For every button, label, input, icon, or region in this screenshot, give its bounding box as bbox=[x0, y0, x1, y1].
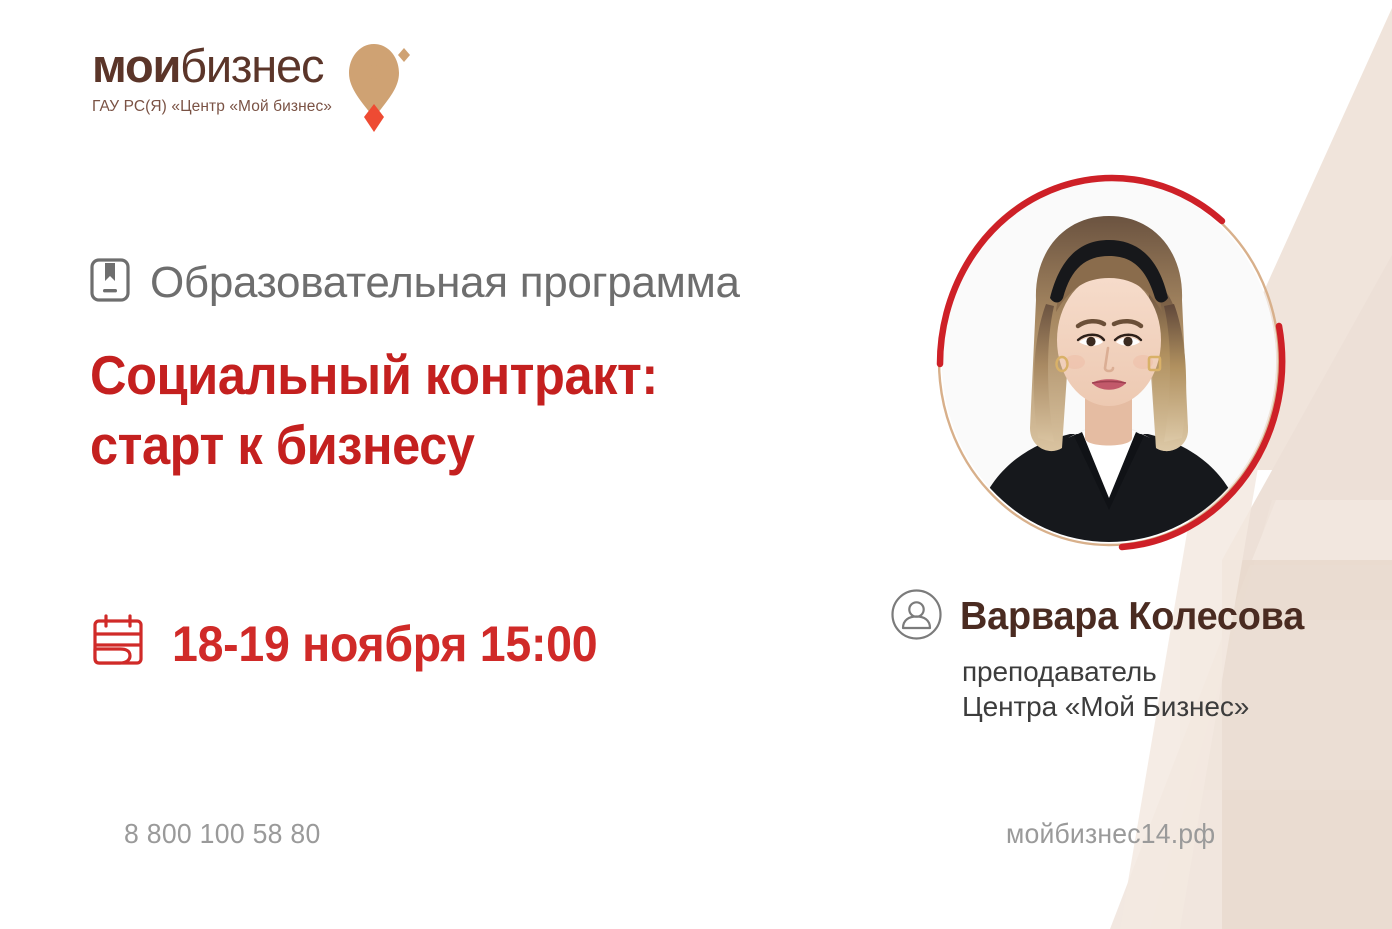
speaker-role-line-1: преподаватель bbox=[962, 654, 1310, 689]
speaker-portrait-block bbox=[926, 166, 1292, 556]
portrait-ring-red bbox=[926, 166, 1292, 556]
program-eyebrow-label: Образовательная программа bbox=[150, 257, 740, 309]
page-title-line-1: Социальный контракт: bbox=[90, 340, 658, 410]
contact-website[interactable]: мойбизнес14.рф bbox=[1006, 817, 1215, 851]
calendar-icon bbox=[90, 612, 146, 675]
event-date-row: 18-19 ноября 15:00 bbox=[90, 612, 629, 675]
brand-wordmark-group: моибизнес ГАУ РС(Я) «Центр «Мой бизнес» bbox=[92, 40, 332, 117]
page-title: Социальный контракт: старт к бизнесу bbox=[90, 340, 658, 480]
brand-wordmark-light: бизнес bbox=[180, 39, 323, 92]
brand-tagline: ГАУ РС(Я) «Центр «Мой бизнес» bbox=[92, 97, 332, 117]
person-circle-icon bbox=[890, 588, 943, 646]
brand-logo: моибизнес ГАУ РС(Я) «Центр «Мой бизнес» bbox=[92, 40, 410, 139]
speaker-role-line-2: Центра «Мой Бизнес» bbox=[962, 689, 1310, 724]
brand-wordmark-bold: мои bbox=[92, 39, 180, 92]
page-title-line-2: старт к бизнесу bbox=[90, 410, 658, 480]
speaker-name: Варвара Колесова bbox=[960, 594, 1304, 640]
promo-banner: моибизнес ГАУ РС(Я) «Центр «Мой бизнес» bbox=[0, 0, 1392, 929]
event-date-label: 18-19 ноября 15:00 bbox=[172, 615, 597, 673]
speaker-info: Варвара Колесова преподаватель Центра «М… bbox=[890, 588, 1310, 724]
speaker-role: преподаватель Центра «Мой Бизнес» bbox=[962, 654, 1310, 724]
rocket-pin-icon bbox=[346, 42, 410, 139]
book-bookmark-icon bbox=[88, 255, 132, 310]
program-eyebrow-row: Образовательная программа bbox=[88, 255, 740, 310]
brand-wordmark: моибизнес bbox=[92, 40, 332, 92]
contact-phone[interactable]: 8 800 100 58 80 bbox=[124, 817, 321, 851]
